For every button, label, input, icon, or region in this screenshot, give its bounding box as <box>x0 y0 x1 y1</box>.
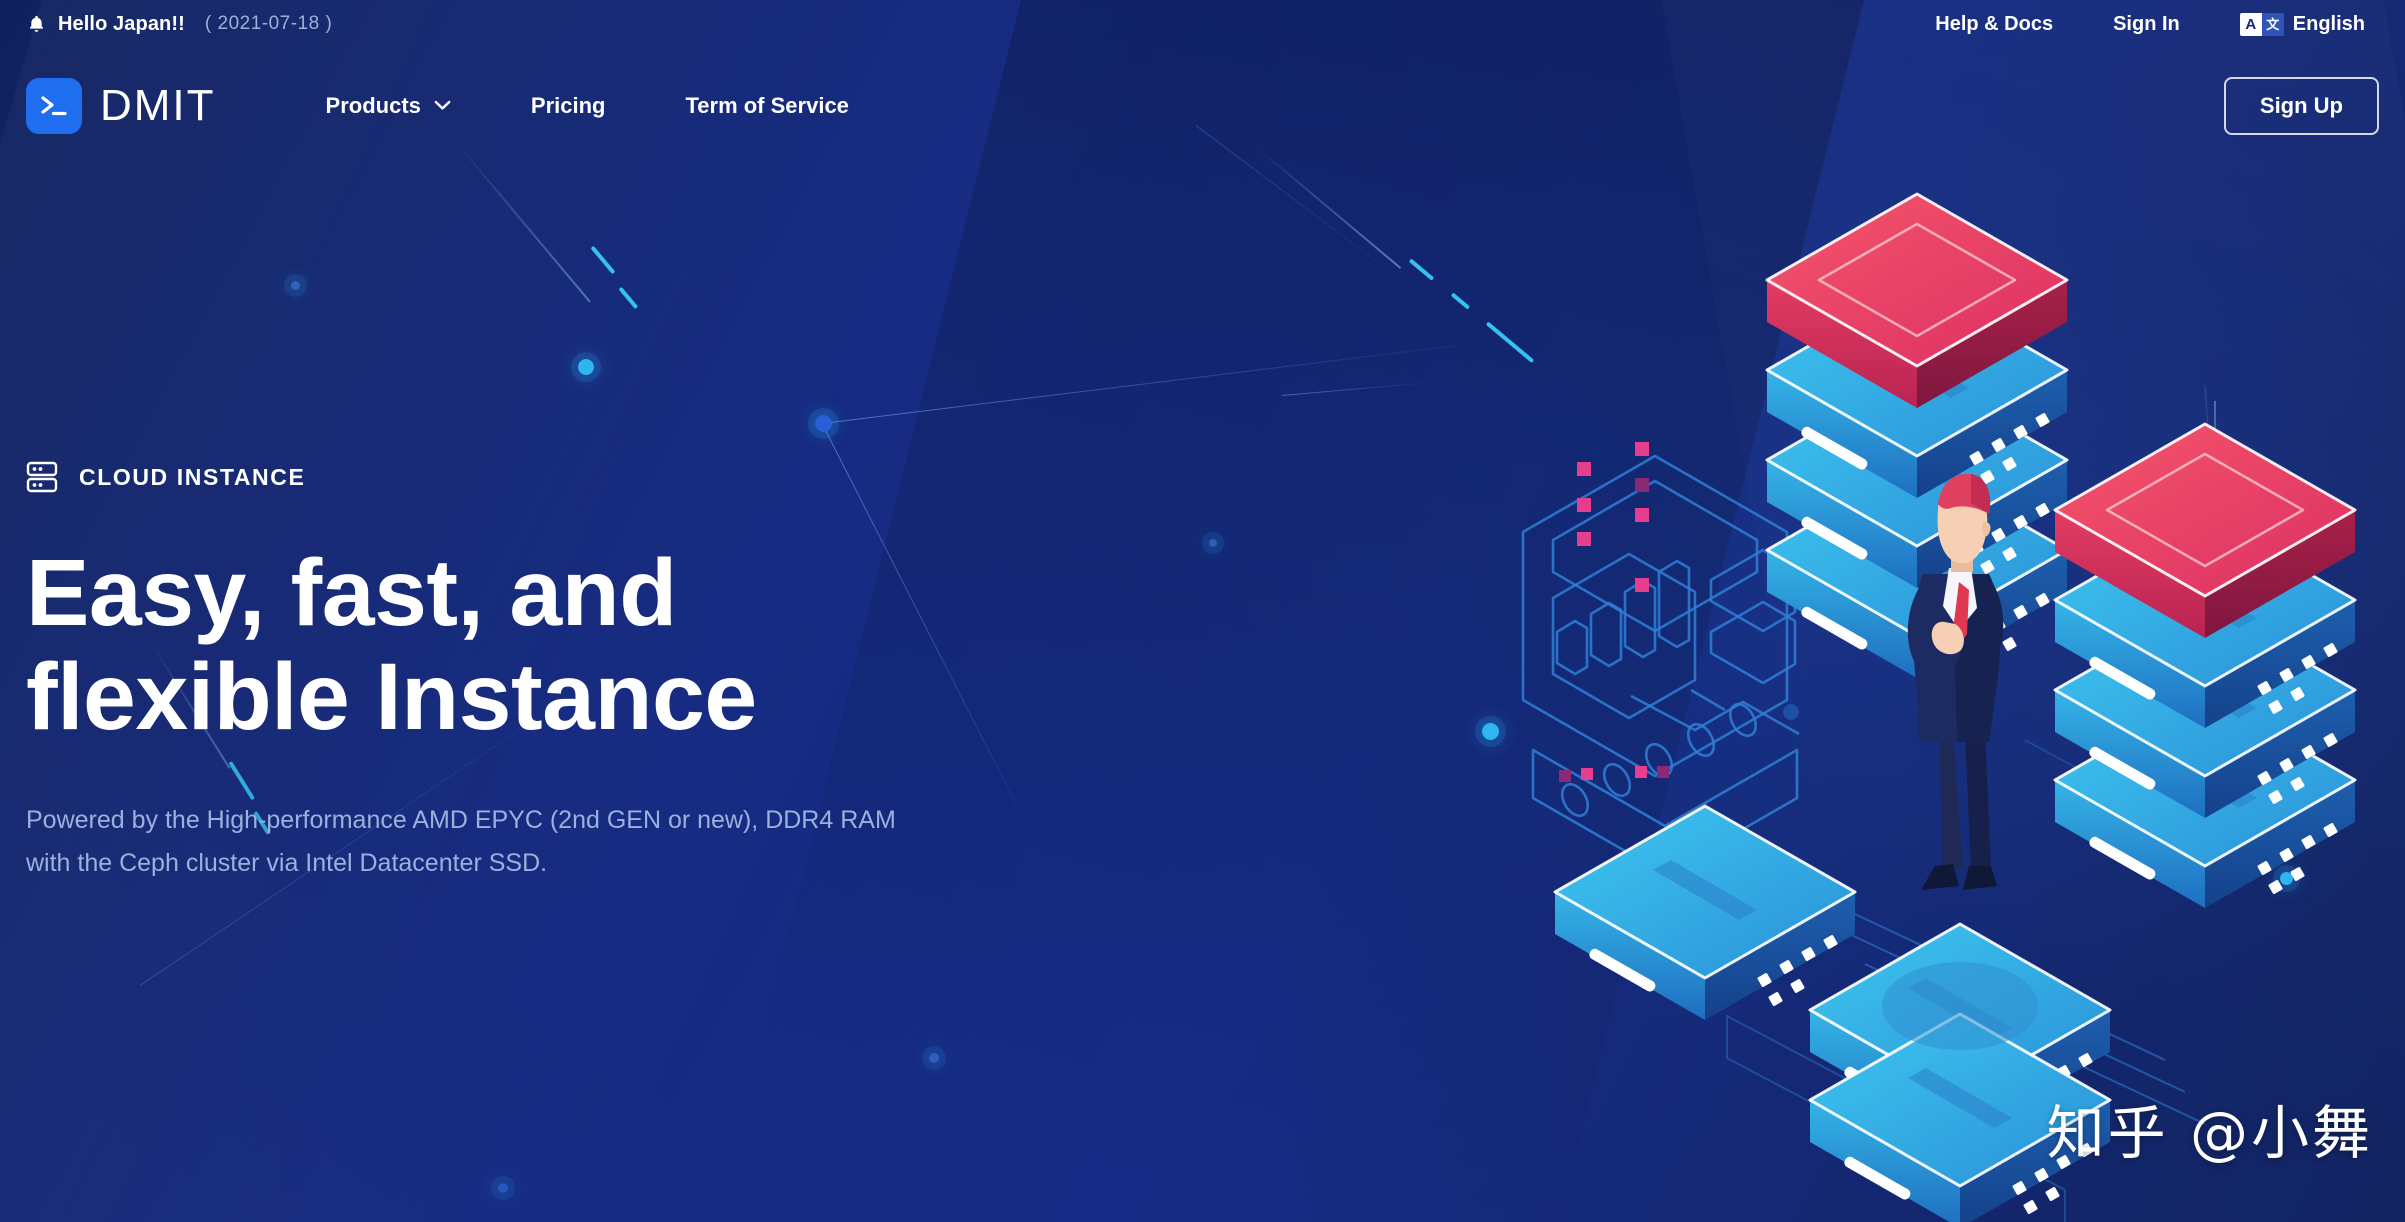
topbar-actions: Help & Docs Sign In A 文 English <box>1905 13 2379 36</box>
page-background: Hello Japan!! ( 2021-07-18 ) Help & Docs… <box>0 0 2405 1222</box>
notification-bar: Hello Japan!! ( 2021-07-18 ) Help & Docs… <box>0 0 2405 48</box>
hero-eyebrow: CLOUD INSTANCE <box>26 460 1226 494</box>
isometric-datacenter-illustration <box>1505 180 2405 1222</box>
nav-item-label: Term of Service <box>685 93 848 119</box>
comet-trail <box>1409 258 1435 280</box>
notification-date: ( 2021-07-18 ) <box>205 13 332 35</box>
decorative-node <box>1482 723 1499 740</box>
nav-links: Products Pricing Term of Service <box>286 93 889 119</box>
decorative-node <box>929 1053 939 1063</box>
decorative-node <box>815 415 832 432</box>
bell-icon <box>26 13 47 36</box>
language-label: English <box>2293 13 2365 36</box>
comet-trail <box>618 287 638 309</box>
language-switcher[interactable]: A 文 English <box>2210 13 2379 36</box>
brand-name: DMIT <box>100 84 216 128</box>
nav-item-products[interactable]: Products <box>286 93 491 119</box>
nav-item-label: Pricing <box>531 93 606 119</box>
translate-icon: A 文 <box>2240 13 2284 36</box>
notification-message: Hello Japan!! ( 2021-07-18 ) <box>26 13 332 36</box>
comet-trail <box>1282 382 1432 396</box>
main-navigation: DMIT Products Pricing Term of Service Si… <box>0 48 2405 163</box>
comet-trail <box>1254 145 1401 269</box>
nav-item-term-of-service[interactable]: Term of Service <box>645 93 888 119</box>
watermark: 知乎 @小舞 <box>2047 1086 2373 1170</box>
chevron-down-icon <box>434 100 451 111</box>
decorative-node <box>498 1183 508 1193</box>
nav-item-pricing[interactable]: Pricing <box>491 93 646 119</box>
terminal-prompt-icon <box>26 78 82 134</box>
page-title: Easy, fast, and flexible Instance <box>26 542 976 749</box>
sign-in-link[interactable]: Sign In <box>2083 13 2210 36</box>
hero-subtitle: Powered by the High-performance AMD EPYC… <box>26 799 926 885</box>
sign-up-button[interactable]: Sign Up <box>2224 77 2379 135</box>
hero-section: CLOUD INSTANCE Easy, fast, and flexible … <box>26 460 1226 885</box>
notification-title: Hello Japan!! <box>58 13 185 36</box>
decorative-node <box>291 281 300 290</box>
comet-trail <box>1451 292 1470 309</box>
decorative-node <box>578 359 594 375</box>
comet-trail <box>454 140 591 302</box>
hero-eyebrow-label: CLOUD INSTANCE <box>79 464 305 491</box>
nav-item-label: Products <box>326 93 421 119</box>
brand-logo[interactable]: DMIT <box>26 78 216 134</box>
server-rack-icon <box>26 460 58 494</box>
help-and-docs-link[interactable]: Help & Docs <box>1905 13 2083 36</box>
translate-icon-cjk: 文 <box>2262 13 2284 36</box>
comet-trail <box>590 246 615 275</box>
decorative-wire <box>822 345 1457 424</box>
translate-icon-latin: A <box>2240 13 2262 36</box>
